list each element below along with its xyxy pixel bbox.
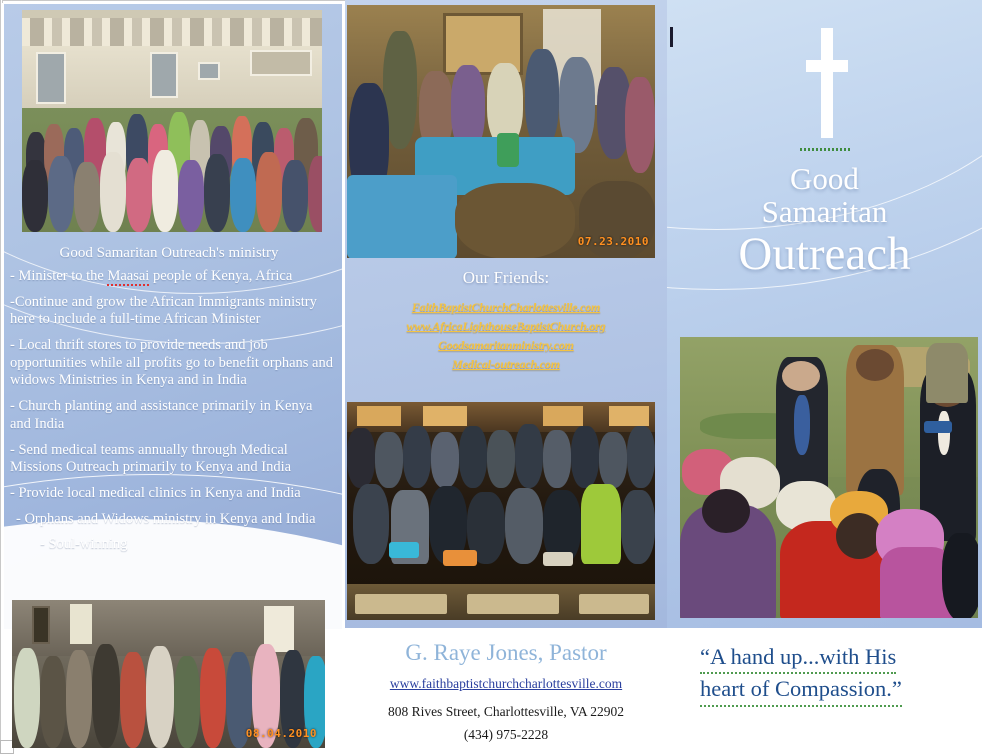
photo-home-bible-study: 07.23.2010: [347, 5, 655, 258]
photo-datestamp: 07.23.2010: [578, 235, 649, 248]
brochure-page: Good Samaritan Outreach's ministry - Min…: [0, 0, 982, 754]
church-phone: (434) 975-2228: [345, 727, 667, 743]
building-door: [36, 52, 66, 104]
bullet-item-7: - Soul-winning: [10, 536, 335, 554]
bullet-item-1: -Continue and grow the African Immigrant…: [10, 294, 335, 329]
bullet-item-0: - Minister to the Maasai people of Kenya…: [10, 268, 335, 286]
building-window-1: [150, 52, 178, 98]
brand-line-good: Good: [667, 162, 982, 195]
building-window-3: [250, 50, 312, 76]
photo-children-group: 08.04.2010: [12, 600, 325, 748]
left-panel-heading: Good Samaritan Outreach's ministry: [0, 245, 338, 262]
friend-link-medical-outreach[interactable]: Medical-outreach.com: [345, 357, 667, 372]
tagline-quote: “A hand up...with His heart of Compassio…: [700, 642, 972, 707]
photo-field-meeting: [680, 337, 978, 618]
brand-title: Good Samaritan Outreach: [667, 162, 982, 281]
bullet-item-6: - Orphans and Widows ministry in Kenya a…: [10, 511, 335, 529]
building-window-2: [198, 62, 220, 80]
cross-icon: [806, 28, 848, 138]
friend-link-good-samaritan-ministry[interactable]: Goodsamaritanministry.com: [345, 338, 667, 353]
text-cursor-caret: [670, 27, 673, 47]
photo-datestamp: 08.04.2010: [246, 727, 317, 740]
friends-section-title: Our Friends:: [345, 268, 667, 288]
tagline-line-1: “A hand up...with His: [700, 642, 896, 674]
bullet-item-3: - Church planting and assistance primari…: [10, 398, 335, 433]
photo-crowd-outside-building: [22, 10, 322, 232]
friend-link-africa-lighthouse[interactable]: www.AfricaLighthouseBaptistChurch.org: [345, 319, 667, 334]
photo-classroom-students: [347, 402, 655, 620]
ministry-bullet-list: - Minister to the Maasai people of Kenya…: [10, 268, 335, 562]
brand-line-outreach: Outreach: [667, 229, 982, 281]
church-address: 808 Rives Street, Charlottesville, VA 22…: [345, 704, 667, 720]
green-dotted-rule: [800, 148, 852, 151]
building-arches: [22, 18, 322, 48]
tagline-line-2: heart of Compassion.”: [700, 674, 902, 706]
friend-link-faith-baptist[interactable]: FaithBaptistChurchCharlottesville.com: [345, 300, 667, 315]
pastor-name: G. Raye Jones, Pastor: [345, 640, 667, 666]
bullet-item-2: - Local thrift stores to provide needs a…: [10, 337, 335, 390]
brand-line-samaritan: Samaritan: [667, 195, 982, 228]
page-border-left: [0, 0, 3, 752]
church-website-link[interactable]: www.faithbaptistchurchcharlottesville.co…: [345, 676, 667, 692]
bullet-item-4: - Send medical teams annually through Me…: [10, 442, 335, 477]
crowd-of-people: [22, 102, 322, 232]
friends-link-list: FaithBaptistChurchCharlottesville.com ww…: [345, 296, 667, 376]
bullet-item-5: - Provide local medical clinics in Kenya…: [10, 485, 335, 503]
misspelled-word-maasai: Maasai: [107, 268, 149, 286]
